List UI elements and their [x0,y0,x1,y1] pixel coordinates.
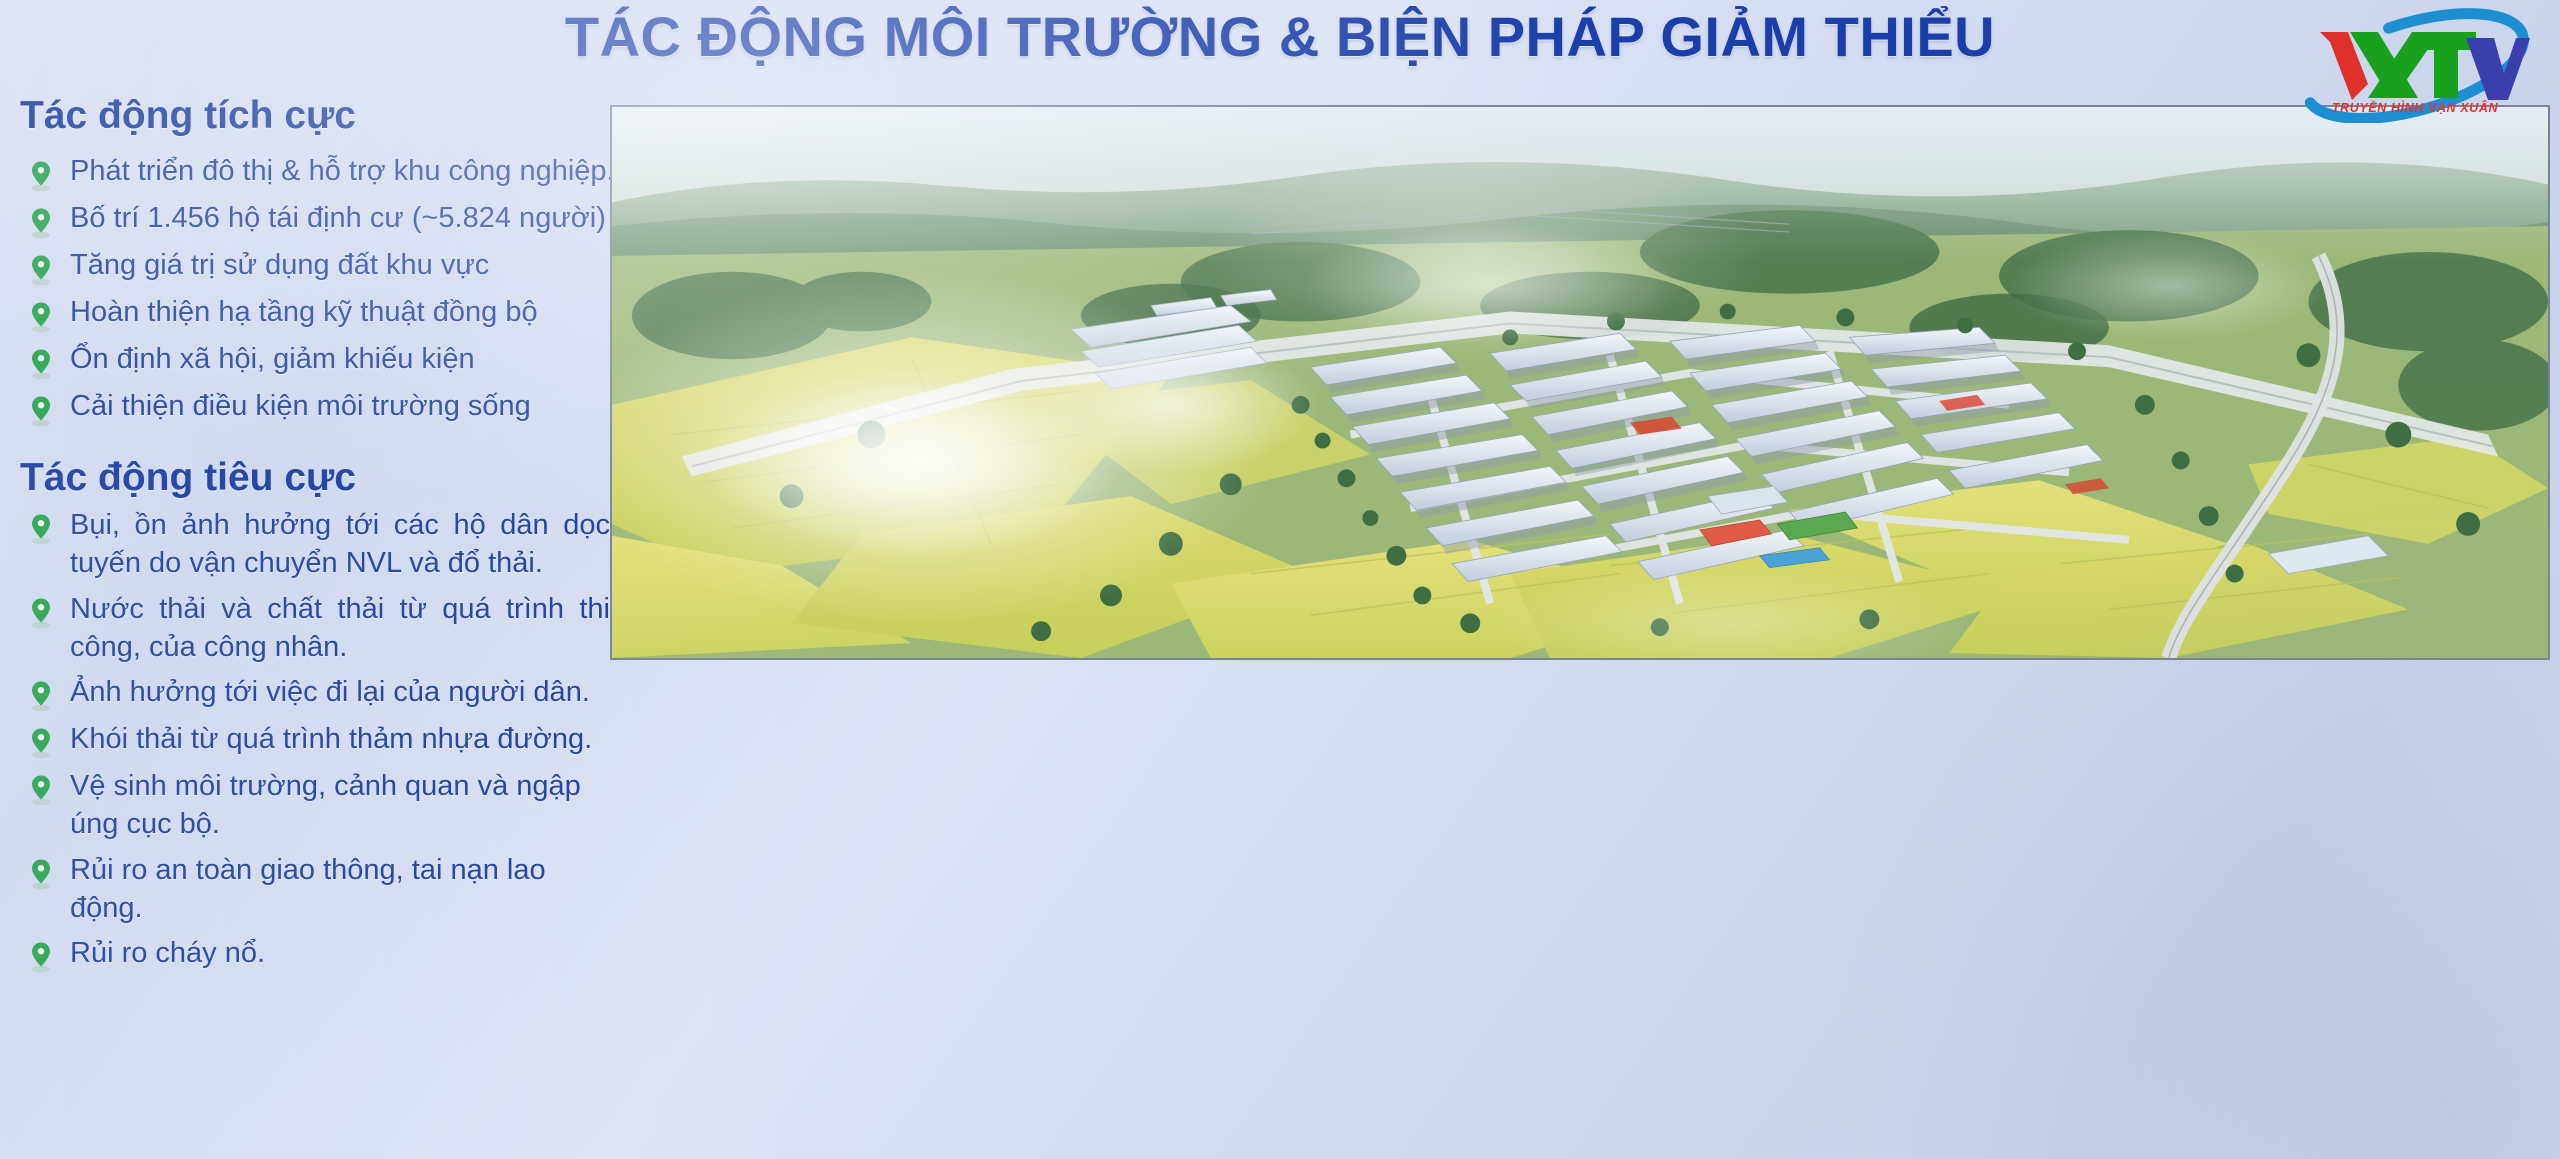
positive-impacts-heading: Tác động tích cực [20,96,616,137]
list-item: Bụi, ồn ảnh hưởng tới các hộ dân dọc tuy… [16,506,616,583]
list-item-text: Cải thiện điều kiện môi trường sống [70,388,531,426]
page-title: TÁC ĐỘNG MÔI TRƯỜNG & BIỆN PHÁP GIẢM THI… [0,4,2560,69]
location-pin-icon [28,679,54,713]
negative-impacts-heading: Tác động tiêu cực [20,458,616,499]
aerial-scene-svg [612,107,2548,658]
list-item-text: Vệ sinh môi trường, cảnh quan và ngập ún… [70,767,610,844]
logo-letters [2320,32,2530,100]
list-item: Cải thiện điều kiện môi trường sống [16,388,616,428]
list-item-text: Khói thải từ quá trình thảm nhựa đường. [70,720,610,758]
list-item: Bố trí 1.456 hộ tái định cư (~5.824 ngườ… [16,200,616,240]
location-pin-icon [28,206,54,240]
list-item: Hoàn thiện hạ tầng kỹ thuật đồng bộ [16,294,616,334]
list-item: Ảnh hưởng tới việc đi lại của người dân. [16,673,616,713]
list-item: Khói thải từ quá trình thảm nhựa đường. [16,720,616,760]
list-item-text: Hoàn thiện hạ tầng kỹ thuật đồng bộ [70,294,538,332]
logo-tagline: TRUYỀN HÌNH VẠN XUÂN [2332,100,2499,115]
content-column: Tác động tích cực Phát triển đô thị & hỗ… [16,96,616,1146]
location-pin-icon [28,596,54,630]
list-item-text: Rủi ro an toàn giao thông, tai nạn lao đ… [70,851,610,928]
location-pin-icon [28,773,54,807]
location-pin-icon [28,940,54,974]
location-pin-icon [28,857,54,891]
vxtv-logo-svg: TRUYỀN HÌNH VẠN XUÂN [2290,8,2540,123]
list-item: Nước thải và chất thải từ quá trình thi … [16,590,616,667]
location-pin-icon [28,394,54,428]
masterplan-image-panel [610,105,2550,660]
location-pin-icon [28,159,54,193]
location-pin-icon [28,300,54,334]
list-item: Tăng giá trị sử dụng đất khu vực [16,247,616,287]
list-item-text: Bụi, ồn ảnh hưởng tới các hộ dân dọc tuy… [70,506,610,583]
list-item: Ổn định xã hội, giảm khiếu kiện [16,341,616,381]
list-item: Phát triển đô thị & hỗ trợ khu công nghi… [16,153,616,193]
negative-impacts-list: Bụi, ồn ảnh hưởng tới các hộ dân dọc tuy… [16,506,616,974]
list-item-text: Tăng giá trị sử dụng đất khu vực [70,247,489,285]
vxtv-logo: TRUYỀN HÌNH VẠN XUÂN [2290,8,2540,123]
location-pin-icon [28,726,54,760]
list-item: Rủi ro cháy nổ. [16,934,616,974]
location-pin-icon [28,253,54,287]
aerial-masterplan-rendering [612,107,2548,658]
location-pin-icon [28,512,54,546]
list-item-text: Nước thải và chất thải từ quá trình thi … [70,590,610,667]
location-pin-icon [28,347,54,381]
list-item-text: Bố trí 1.456 hộ tái định cư (~5.824 ngườ… [70,200,606,238]
positive-impacts-list: Phát triển đô thị & hỗ trợ khu công nghi… [16,153,616,428]
list-item: Rủi ro an toàn giao thông, tai nạn lao đ… [16,851,616,928]
list-item-text: Ổn định xã hội, giảm khiếu kiện [70,341,475,379]
list-item-text: Phát triển đô thị & hỗ trợ khu công nghi… [70,153,615,191]
list-item-text: Ảnh hưởng tới việc đi lại của người dân. [70,673,610,711]
list-item-text: Rủi ro cháy nổ. [70,934,610,972]
list-item: Vệ sinh môi trường, cảnh quan và ngập ún… [16,767,616,844]
